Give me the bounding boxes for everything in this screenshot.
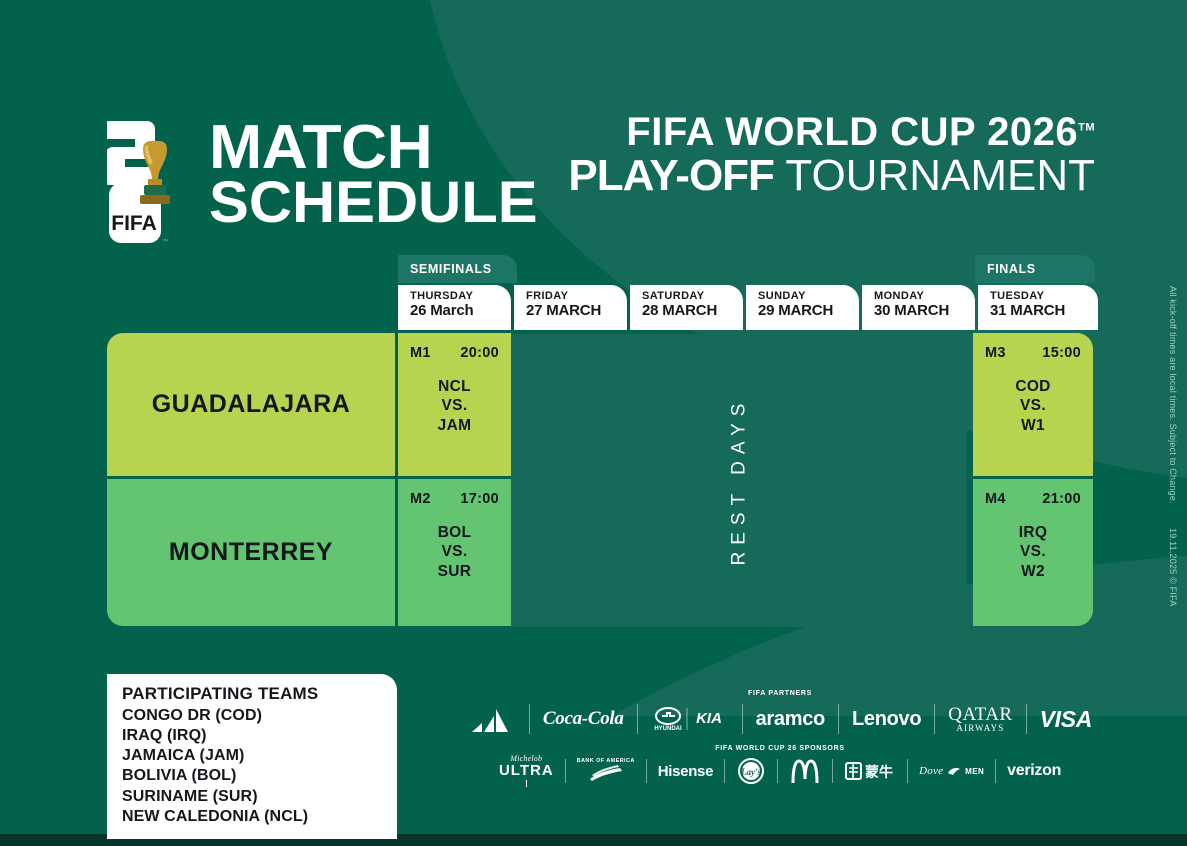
match-header: M4 21:00 — [985, 491, 1081, 507]
men-label: MEN — [965, 767, 984, 776]
venue-name: MONTERREY — [169, 538, 333, 567]
date-card-thursday: THURSDAY 26 March — [398, 285, 511, 330]
date-card-saturday: SATURDAY 28 MARCH — [630, 285, 743, 330]
airways-label: AIRWAYS — [956, 724, 1004, 733]
adidas-logo — [455, 701, 529, 737]
trademark-symbol: TM — [1078, 122, 1095, 134]
boa-flag-icon — [586, 765, 626, 783]
svg-text:蒙牛: 蒙牛 — [865, 764, 893, 780]
fifa-26-logo: FIFA ™ MATCH SCHEDULE — [107, 115, 528, 250]
match-teams: NCL VS. JAM — [410, 377, 499, 435]
dove-label: Dove — [919, 765, 943, 777]
hyundai-kia-logo: HYUNDAI KIA — [638, 701, 742, 737]
date-number: 29 MARCH — [758, 303, 859, 320]
hisense-logo: Hisense — [647, 756, 724, 786]
title-main-text: FIFA WORLD CUP 2026 — [626, 110, 1078, 154]
lenovo-logo: Lenovo — [839, 701, 934, 737]
title-tournament: TOURNAMENT — [785, 151, 1095, 200]
match-time: 15:00 — [1042, 345, 1081, 361]
bank-of-america-logo: BANK OF AMERICA — [566, 756, 646, 786]
wc-sponsors-heading: FIFA WORLD CUP 26 SPONSORS — [430, 745, 1130, 752]
fifa-partners-heading: FIFA PARTNERS — [430, 690, 1130, 697]
date-dow: SUNDAY — [758, 291, 859, 303]
match-teams: IRQ VS. W2 — [985, 523, 1081, 581]
match-away-team: W1 — [985, 416, 1081, 435]
mengniu-logo: 蒙牛 — [833, 756, 907, 786]
coca-cola-logo: Coca-Cola — [530, 701, 637, 737]
participating-teams-title: PARTICIPATING TEAMS — [122, 684, 383, 704]
participating-teams-card: PARTICIPATING TEAMS CONGO DR (COD) IRAQ … — [107, 674, 397, 839]
qatar-airways-stack: QATAR AIRWAYS — [948, 705, 1012, 733]
date-venue-spacer — [107, 285, 398, 330]
match-header: M3 15:00 — [985, 345, 1081, 361]
date-dow: MONDAY — [874, 291, 975, 303]
verizon-logo: verizon — [996, 756, 1072, 786]
team-item: SURINAME (SUR) — [122, 787, 383, 807]
match-vs-label: VS. — [410, 396, 499, 415]
match-id: M4 — [985, 491, 1006, 507]
date-number: 31 MARCH — [990, 303, 1098, 320]
team-item: BOLIVIA (BOL) — [122, 766, 383, 786]
michelob-ribbon-icon — [526, 780, 527, 787]
date-number: 27 MARCH — [526, 303, 627, 320]
team-item: IRAQ (IRQ) — [122, 726, 383, 746]
date-dow: SATURDAY — [642, 291, 743, 303]
sponsors-section: FIFA PARTNERS Coca-Cola HYUNDAI — [430, 690, 1130, 786]
lenovo-label: Lenovo — [852, 708, 921, 731]
stage-tab-finals: FINALS — [975, 255, 1095, 283]
match-time: 21:00 — [1042, 491, 1081, 507]
hisense-label: Hisense — [658, 763, 713, 780]
date-dow: THURSDAY — [410, 291, 511, 303]
match-id: M1 — [410, 345, 431, 361]
team-item: CONGO DR (COD) — [122, 706, 383, 726]
visa-logo: VISA — [1027, 701, 1105, 737]
lays-logo: Lay's — [725, 756, 777, 786]
match-id: M3 — [985, 345, 1006, 361]
dove-men-inner: Dove MEN — [919, 765, 984, 777]
date-card-friday: FRIDAY 27 MARCH — [514, 285, 627, 330]
match-vs-label: VS. — [985, 542, 1081, 561]
header: FIFA ™ MATCH SCHEDULE FIFA WORLD CUP 202… — [0, 0, 1187, 250]
svg-text:KIA: KIA — [696, 710, 722, 727]
match-home-team: BOL — [410, 523, 499, 542]
coca-cola-label: Coca-Cola — [543, 708, 624, 730]
svg-text:FIFA: FIFA — [111, 212, 157, 235]
match-teams: COD VS. W1 — [985, 377, 1081, 435]
match-vs-label: VS. — [410, 542, 499, 561]
match-cell-m1[interactable]: M1 20:00 NCL VS. JAM — [398, 333, 511, 476]
team-item: JAMAICA (JAM) — [122, 746, 383, 766]
match-time: 17:00 — [460, 491, 499, 507]
date-card-monday: MONDAY 30 MARCH — [862, 285, 975, 330]
venue-name: GUADALAJARA — [152, 390, 351, 419]
team-item: NEW CALEDONIA (NCL) — [122, 807, 383, 827]
svg-text:HYUNDAI: HYUNDAI — [654, 726, 682, 732]
world-cup-trophy-icon: FIFA ™ — [107, 115, 195, 250]
aramco-label: aramco — [756, 708, 825, 731]
qatar-airways-logo: QATAR AIRWAYS — [935, 701, 1025, 737]
date-number: 26 March — [410, 303, 511, 320]
match-away-team: JAM — [410, 416, 499, 435]
rest-days-panel: REST DAYS — [511, 334, 967, 627]
title-playoff: PLAY-OFF — [568, 151, 774, 200]
title-fifa-world-cup-2026: FIFA WORLD CUP 2026TM — [568, 112, 1095, 152]
verizon-label: verizon — [1007, 762, 1061, 780]
match-away-team: W2 — [985, 562, 1081, 581]
match-away-team: SUR — [410, 562, 499, 581]
match-cell-m3[interactable]: M3 15:00 COD VS. W1 — [973, 333, 1093, 476]
copyright-note: 19.11.2025 © FIFA — [1168, 528, 1178, 606]
stage-tab-semifinals: SEMIFINALS — [398, 255, 517, 283]
date-header-row: THURSDAY 26 March FRIDAY 27 MARCH SATURD… — [107, 285, 1101, 330]
aramco-logo: aramco — [743, 701, 838, 737]
title-playoff-tournament: PLAY-OFF TOURNAMENT — [568, 154, 1095, 198]
match-vs-label: VS. — [985, 396, 1081, 415]
match-cell-m4[interactable]: M4 21:00 IRQ VS. W2 — [973, 479, 1093, 626]
match-cell-m2[interactable]: M2 17:00 BOL VS. SUR — [398, 479, 511, 626]
venue-cell-guadalajara: GUADALAJARA — [107, 333, 395, 476]
svg-text:Lay's: Lay's — [740, 767, 761, 777]
qatar-label: QATAR — [948, 705, 1012, 724]
date-card-sunday: SUNDAY 29 MARCH — [746, 285, 859, 330]
date-number: 30 MARCH — [874, 303, 975, 320]
match-home-team: NCL — [410, 377, 499, 396]
michelob-ultra-logo: Michelob ULTRA — [488, 756, 565, 786]
michelob-ultra-stack: Michelob ULTRA — [499, 755, 554, 787]
match-id: M2 — [410, 491, 431, 507]
stage-band-row: SEMIFINALS FINALS — [107, 255, 1101, 283]
match-header: M2 17:00 — [410, 491, 499, 507]
visa-label: VISA — [1040, 706, 1092, 733]
dove-bird-icon — [947, 766, 961, 776]
match-teams: BOL VS. SUR — [410, 523, 499, 581]
ultra-label: ULTRA — [499, 763, 554, 778]
kickoff-times-note: All kick-off times are local times. Subj… — [1168, 286, 1178, 504]
mcdonalds-logo — [778, 756, 832, 786]
match-header: M1 20:00 — [410, 345, 499, 361]
date-number: 28 MARCH — [642, 303, 743, 320]
heading-line-schedule: SCHEDULE — [209, 176, 538, 229]
date-dow: TUESDAY — [990, 291, 1098, 303]
date-dow: FRIDAY — [526, 291, 627, 303]
tournament-title: FIFA WORLD CUP 2026TM PLAY-OFF TOURNAMEN… — [568, 112, 1095, 198]
schedule-grid: SEMIFINALS FINALS THURSDAY 26 March FRID… — [107, 255, 1101, 626]
date-card-tuesday: TUESDAY 31 MARCH — [978, 285, 1098, 330]
dove-men-logo: Dove MEN — [908, 756, 995, 786]
fifa-partners-row: Coca-Cola HYUNDAI KIA aramco Lenovo — [430, 701, 1130, 737]
stage-gap — [517, 255, 975, 283]
svg-text:™: ™ — [162, 238, 168, 245]
rest-days-label: REST DAYS — [728, 396, 750, 565]
match-home-team: COD — [985, 377, 1081, 396]
match-home-team: IRQ — [985, 523, 1081, 542]
boa-stack: BANK OF AMERICA — [577, 759, 635, 783]
match-schedule-infographic: FIFA ™ MATCH SCHEDULE FIFA WORLD CUP 202… — [0, 0, 1187, 846]
venue-cell-monterrey: MONTERREY — [107, 479, 395, 626]
heading-line-match: MATCH — [209, 119, 538, 176]
match-schedule-heading: MATCH SCHEDULE — [209, 119, 528, 229]
wc-sponsors-row: Michelob ULTRA BANK OF AMERICA Hisense — [430, 756, 1130, 786]
stage-venue-spacer — [107, 255, 398, 283]
match-time: 20:00 — [460, 345, 499, 361]
